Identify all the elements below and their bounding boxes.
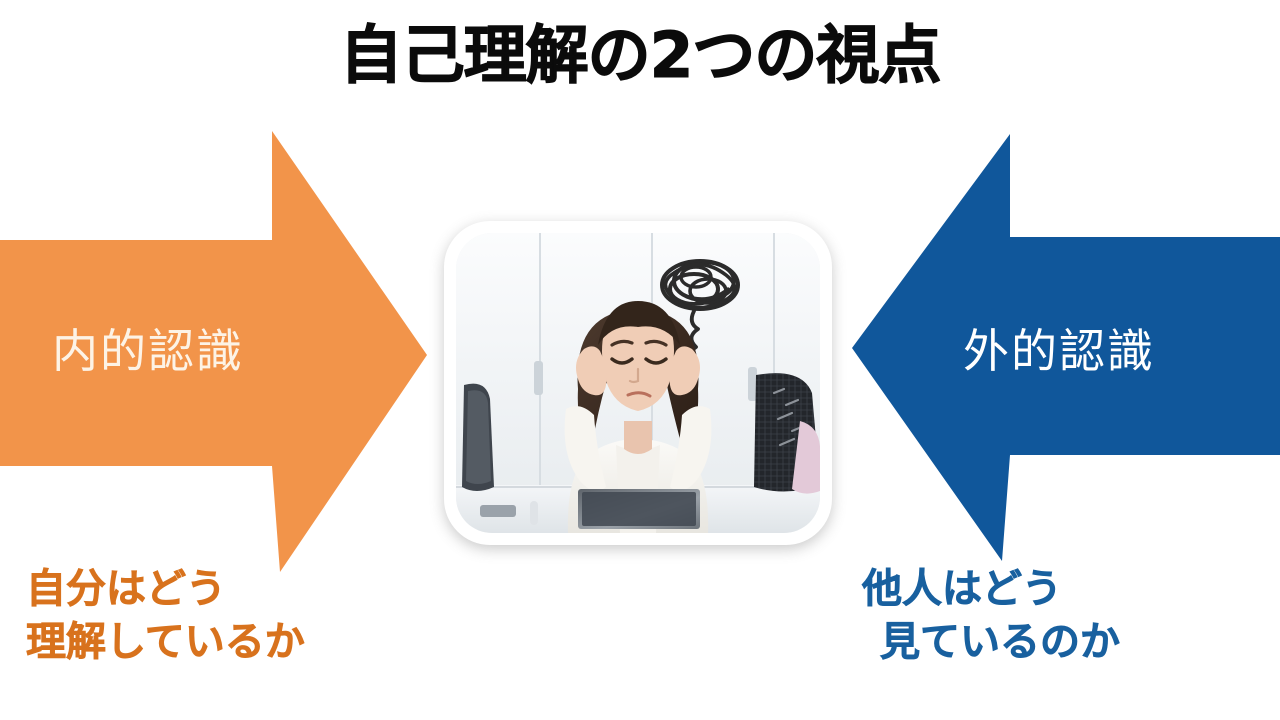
caption-left-line-1: 自分はどう <box>26 563 305 616</box>
photo-illustration <box>456 233 820 533</box>
center-photo-card <box>444 221 832 545</box>
slide-canvas: 自己理解の2つの視点 内的認識 外的認識 <box>0 0 1280 720</box>
arrow-label-outer-perception: 外的認識 <box>963 328 1155 374</box>
caption-left-line-2: 理解しているか <box>26 616 305 669</box>
caption-right-line-1: 他人はどう <box>862 563 1120 616</box>
caption-right-line-2: 見ているのか <box>862 616 1120 669</box>
arrow-label-inner-perception: 内的認識 <box>52 328 244 374</box>
caption-outer-perception: 他人はどう 見ているのか <box>862 563 1120 669</box>
center-photo <box>456 233 820 533</box>
caption-inner-perception: 自分はどう 理解しているか <box>26 563 305 669</box>
